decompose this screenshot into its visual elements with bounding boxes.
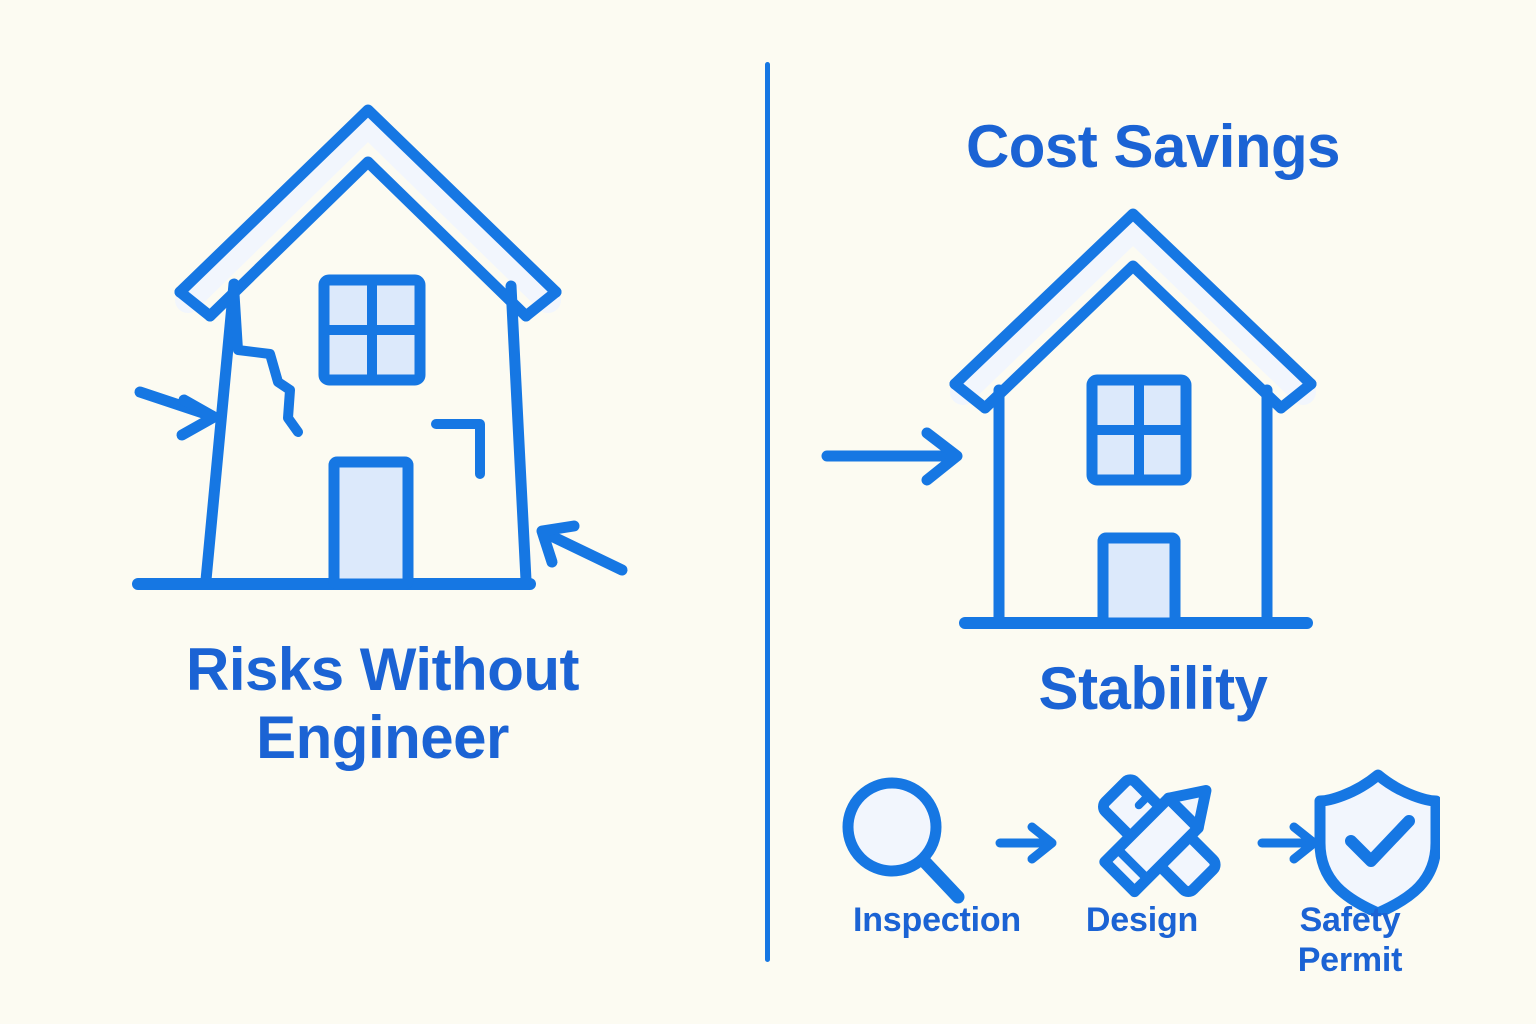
stable-house-illustration [815, 200, 1375, 650]
cracked-leaning-house-illustration [118, 100, 648, 620]
arrow-pointing-up-left [542, 526, 622, 570]
arrow-pointing-right [140, 392, 214, 435]
shield-check-icon [1320, 775, 1436, 913]
cost-savings-title: Cost Savings [853, 113, 1453, 181]
right-wall-tilted [511, 286, 526, 580]
left-panel-title: Risks Without Engineer [60, 636, 705, 773]
infographic-canvas: Risks Without Engineer Cost Savings [0, 0, 1536, 1024]
arrow-right-icon-1 [1000, 827, 1052, 859]
right-panel-benefits: Cost Savings [770, 0, 1536, 1024]
stability-title: Stability [853, 655, 1453, 723]
process-label-design: Design [1042, 900, 1242, 940]
left-panel-risks: Risks Without Engineer [0, 0, 765, 1024]
arrow-right-icon-2 [1262, 827, 1314, 859]
door [334, 462, 408, 584]
corner-gap-detail [436, 424, 480, 474]
wall-crack [234, 286, 298, 432]
door [1103, 538, 1175, 623]
process-label-inspection: Inspection [812, 900, 1062, 940]
left-wall-tilted [206, 284, 234, 580]
process-flow-icons [820, 765, 1440, 915]
roof-fill [188, 124, 548, 300]
ruler-pencil-icon [1101, 776, 1221, 895]
magnifier-icon [848, 783, 958, 897]
process-label-safety-permit: Safety Permit [1240, 900, 1460, 980]
roof-fill [963, 228, 1303, 392]
arrow-pointing-right [827, 433, 957, 480]
process-labels-row: Inspection Design Safety Permit [820, 900, 1440, 1010]
